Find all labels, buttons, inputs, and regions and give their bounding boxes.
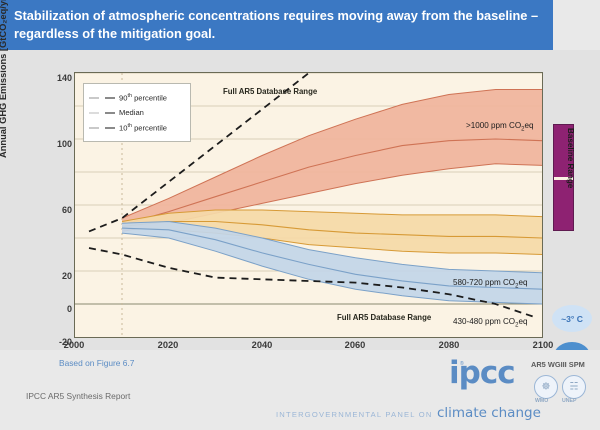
- figure-credit: Based on Figure 6.7: [59, 358, 134, 368]
- report-label: IPCC AR5 Synthesis Report: [26, 391, 130, 401]
- y-axis-title: Annual GHG Emissions [GtCO₂eq/yr]: [0, 0, 8, 158]
- y-tick-100: 100: [26, 139, 72, 149]
- ipcc-logo: ipcc ®: [449, 359, 515, 388]
- plot-area: 90th percentile Median 10th percentile F…: [74, 72, 543, 338]
- page-title: Stabilization of atmospheric concentrati…: [0, 7, 553, 42]
- tagline-big: climate change: [437, 405, 541, 421]
- legend-key-median: [89, 107, 115, 118]
- tagline-small: INTERGOVERNMENTAL PANEL ON: [276, 410, 433, 419]
- working-group-label: AR5 WGIII SPM: [531, 360, 585, 369]
- chart-legend: 90th percentile Median 10th percentile: [83, 83, 191, 142]
- legend-label-median: Median: [119, 108, 144, 117]
- wmo-label: WMO: [535, 398, 548, 404]
- x-tick-2100: 2100: [533, 340, 554, 350]
- footer: Based on Figure 6.7 IPCC AR5 Synthesis R…: [0, 350, 600, 430]
- x-tick-2040: 2040: [252, 340, 273, 350]
- legend-key-p90: [89, 92, 115, 103]
- lower-range-label: Full AR5 Database Range: [337, 313, 431, 322]
- figure-panel: Annual GHG Emissions [GtCO₂eq/yr] 140 10…: [0, 50, 600, 350]
- upper-range-label: Full AR5 Database Range: [223, 87, 317, 96]
- x-tick-2080: 2080: [439, 340, 460, 350]
- mid-scenario-label: 580-720 ppm CO2eq: [453, 278, 527, 290]
- temperature-badge-3c: ~3° C: [552, 305, 592, 332]
- unep-label: UNEP: [562, 398, 576, 404]
- wmo-glyph: ☸: [542, 382, 551, 393]
- unep-logo-icon: ☵: [562, 375, 586, 399]
- wmo-logo-icon: ☸: [534, 375, 558, 399]
- x-tick-2060: 2060: [345, 340, 366, 350]
- baseline-range-label: Baseline Range: [566, 128, 575, 188]
- y-axis: Annual GHG Emissions [GtCO₂eq/yr] 140 10…: [14, 72, 72, 338]
- title-banner: Stabilization of atmospheric concentrati…: [0, 0, 553, 50]
- registered-mark-icon: ®: [460, 361, 464, 367]
- y-tick-0: 0: [26, 304, 72, 314]
- y-tick-60: 60: [26, 205, 72, 215]
- x-tick-2000: 2000: [64, 340, 85, 350]
- low-scenario-label: 430-480 ppm CO2eq: [453, 317, 527, 329]
- y-tick-140: 140: [26, 73, 72, 83]
- x-tick-2020: 2020: [158, 340, 179, 350]
- legend-item-p90: 90th percentile: [89, 90, 184, 105]
- legend-item-p10: 10th percentile: [89, 120, 184, 135]
- legend-label-p90: 90th percentile: [119, 93, 167, 103]
- unep-glyph: ☵: [570, 382, 579, 393]
- y-tick-20: 20: [26, 271, 72, 281]
- high-scenario-label: >1000 ppm CO2eq: [466, 121, 533, 133]
- legend-item-median: Median: [89, 105, 184, 120]
- legend-label-p10: 10th percentile: [119, 123, 167, 133]
- ipcc-wordmark: ipcc: [449, 359, 515, 388]
- legend-key-p10: [89, 122, 115, 133]
- ipcc-tagline: INTERGOVERNMENTAL PANEL ON climate chang…: [276, 404, 541, 422]
